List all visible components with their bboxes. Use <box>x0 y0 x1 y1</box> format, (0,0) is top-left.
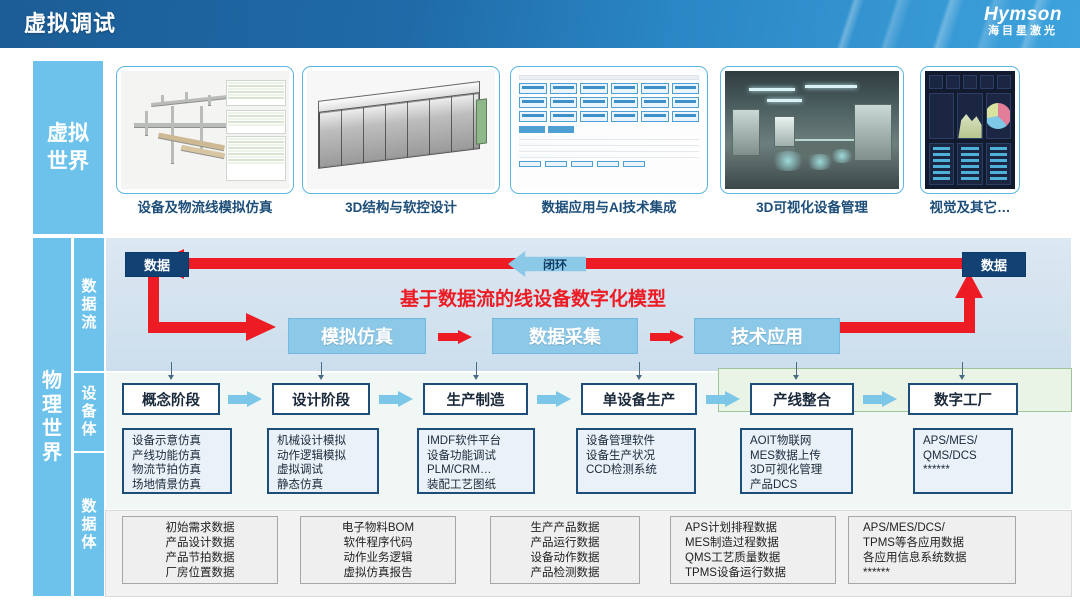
rail-sub-data-body: 数据体 <box>73 452 105 597</box>
stage-box-single-device[interactable]: 单设备生产 <box>581 383 697 415</box>
connector-line-5 <box>796 362 797 376</box>
data-box-3: 生产产品数据 产品运行数据 设备动作数据 产品检测数据 <box>490 516 640 584</box>
stage-arrow-4 <box>706 391 740 408</box>
flow-box-tech-application[interactable]: 技术应用 <box>694 318 840 354</box>
connector-arrow-6 <box>959 375 965 380</box>
connector-arrow-5 <box>793 375 799 380</box>
data-chip-left: 数据 <box>125 252 189 277</box>
data-chip-right: 数据 <box>962 252 1026 277</box>
virtual-world-panels: 设备及物流线模拟仿真 3D结构与软控设计 <box>112 60 1072 220</box>
connector-line-6 <box>962 362 963 376</box>
flow-box-data-collection[interactable]: 数据采集 <box>492 318 638 354</box>
cad-enclosure-image <box>307 71 495 189</box>
data-box-4: APS计划排程数据 MES制造过程数据 QMS工艺质量数据 TPMS设备运行数据 <box>670 516 836 584</box>
thumbnail-card-3d-visual-mgmt[interactable] <box>720 66 904 194</box>
flow-box-simulation[interactable]: 模拟仿真 <box>288 318 426 354</box>
connector-arrow-3 <box>473 375 479 380</box>
thumbnail-label-data-ai: 数据应用与AI技术集成 <box>510 196 708 216</box>
red-arrow-simulation-to-collection <box>438 330 472 344</box>
conveyor-model-image <box>121 71 289 189</box>
thumbnail-label-simulation: 设备及物流线模拟仿真 <box>112 196 298 216</box>
connector-arrow-4 <box>636 375 642 380</box>
software-dashboard-image <box>515 71 703 189</box>
detail-box-5: AOIT物联网 MES数据上传 3D可视化管理 产品DCS <box>740 428 853 494</box>
app-header: 虚拟调试 Hymson 海目星激光 <box>0 0 1080 48</box>
bi-dashboard-image <box>925 71 1015 189</box>
rail-sub-device-body-label: 设备体 <box>81 385 97 439</box>
connector-line-3 <box>476 362 477 376</box>
rail-physical-world: 物理世界 <box>32 237 72 597</box>
flow-diagram-title: 基于数据流的线设备数字化模型 <box>400 284 666 311</box>
detail-box-2: 机械设计模拟 动作逻辑模拟 虚拟调试 静态仿真 <box>267 428 379 494</box>
connector-line-2 <box>321 362 322 376</box>
connector-arrow-1 <box>168 375 174 380</box>
rail-virtual-line2: 世界 <box>47 150 89 173</box>
stage-arrow-3 <box>537 391 571 408</box>
thumbnail-label-vision-other: 视觉及其它… <box>908 196 1032 216</box>
thumbnail-card-simulation[interactable] <box>116 66 294 194</box>
red-arrow-head-to-simulation <box>246 313 276 341</box>
stage-box-concept[interactable]: 概念阶段 <box>122 383 220 415</box>
detail-box-4: 设备管理软件 设备生产状况 CCD检测系统 <box>576 428 696 494</box>
connector-arrow-2 <box>318 375 324 380</box>
logo-wordmark: Hymson <box>984 5 1062 24</box>
rail-sub-data-body-label: 数据体 <box>81 498 97 552</box>
factory-render-image <box>725 71 899 189</box>
stage-box-digital-factory[interactable]: 数字工厂 <box>908 383 1018 415</box>
rail-physical-world-label: 物理世界 <box>42 369 62 465</box>
rail-sub-data-flow-label: 数据流 <box>81 278 97 332</box>
closed-loop-label: 闭环 <box>543 256 567 273</box>
rail-virtual-line1: 虚拟 <box>47 122 89 145</box>
red-loop-left-horizontal <box>148 322 248 333</box>
brand-logo: Hymson 海目星激光 <box>984 5 1062 38</box>
connector-line-4 <box>639 362 640 376</box>
page-title: 虚拟调试 <box>24 6 116 38</box>
detail-box-1: 设备示意仿真 产线功能仿真 物流节拍仿真 场地情景仿真 <box>122 428 232 494</box>
thumbnail-card-3d-structure[interactable] <box>302 66 500 194</box>
stage-box-design[interactable]: 设计阶段 <box>272 383 370 415</box>
red-arrow-collection-to-application <box>650 330 684 344</box>
stage-box-line-integration[interactable]: 产线整合 <box>750 383 854 415</box>
rail-virtual-world: 虚拟 世界 <box>32 60 104 235</box>
thumbnail-card-data-ai[interactable] <box>510 66 708 194</box>
red-loop-right-horizontal <box>840 322 975 333</box>
thumbnail-card-vision-other[interactable] <box>920 66 1020 194</box>
stage-arrow-1 <box>228 391 262 408</box>
stage-box-manufacture[interactable]: 生产制造 <box>423 383 528 415</box>
connector-line-1 <box>171 362 172 376</box>
detail-box-3: IMDF软件平台 设备功能调试 PLM/CRM… 装配工艺图纸 <box>417 428 535 494</box>
thumbnail-label-3d-visual-mgmt: 3D可视化设备管理 <box>716 196 908 216</box>
logo-chinese-name: 海目星激光 <box>984 24 1062 38</box>
detail-box-6: APS/MES/ QMS/DCS ****** <box>913 428 1013 494</box>
data-box-2: 电子物料BOM 软件程序代码 动作业务逻辑 虚拟仿真报告 <box>300 516 456 584</box>
rail-virtual-world-label: 虚拟 世界 <box>47 120 89 176</box>
data-box-5: APS/MES/DCS/ TPMS等各应用数据 各应用信息系统数据 ****** <box>848 516 1016 584</box>
data-box-1: 初始需求数据 产品设计数据 产品节拍数据 厂房位置数据 <box>122 516 278 584</box>
rail-sub-data-flow: 数据流 <box>73 237 105 372</box>
rail-sub-device-body: 设备体 <box>73 372 105 452</box>
stage-arrow-5 <box>863 391 897 408</box>
stage-arrow-2 <box>379 391 413 408</box>
thumbnail-label-3d-structure: 3D结构与软控设计 <box>302 196 500 216</box>
